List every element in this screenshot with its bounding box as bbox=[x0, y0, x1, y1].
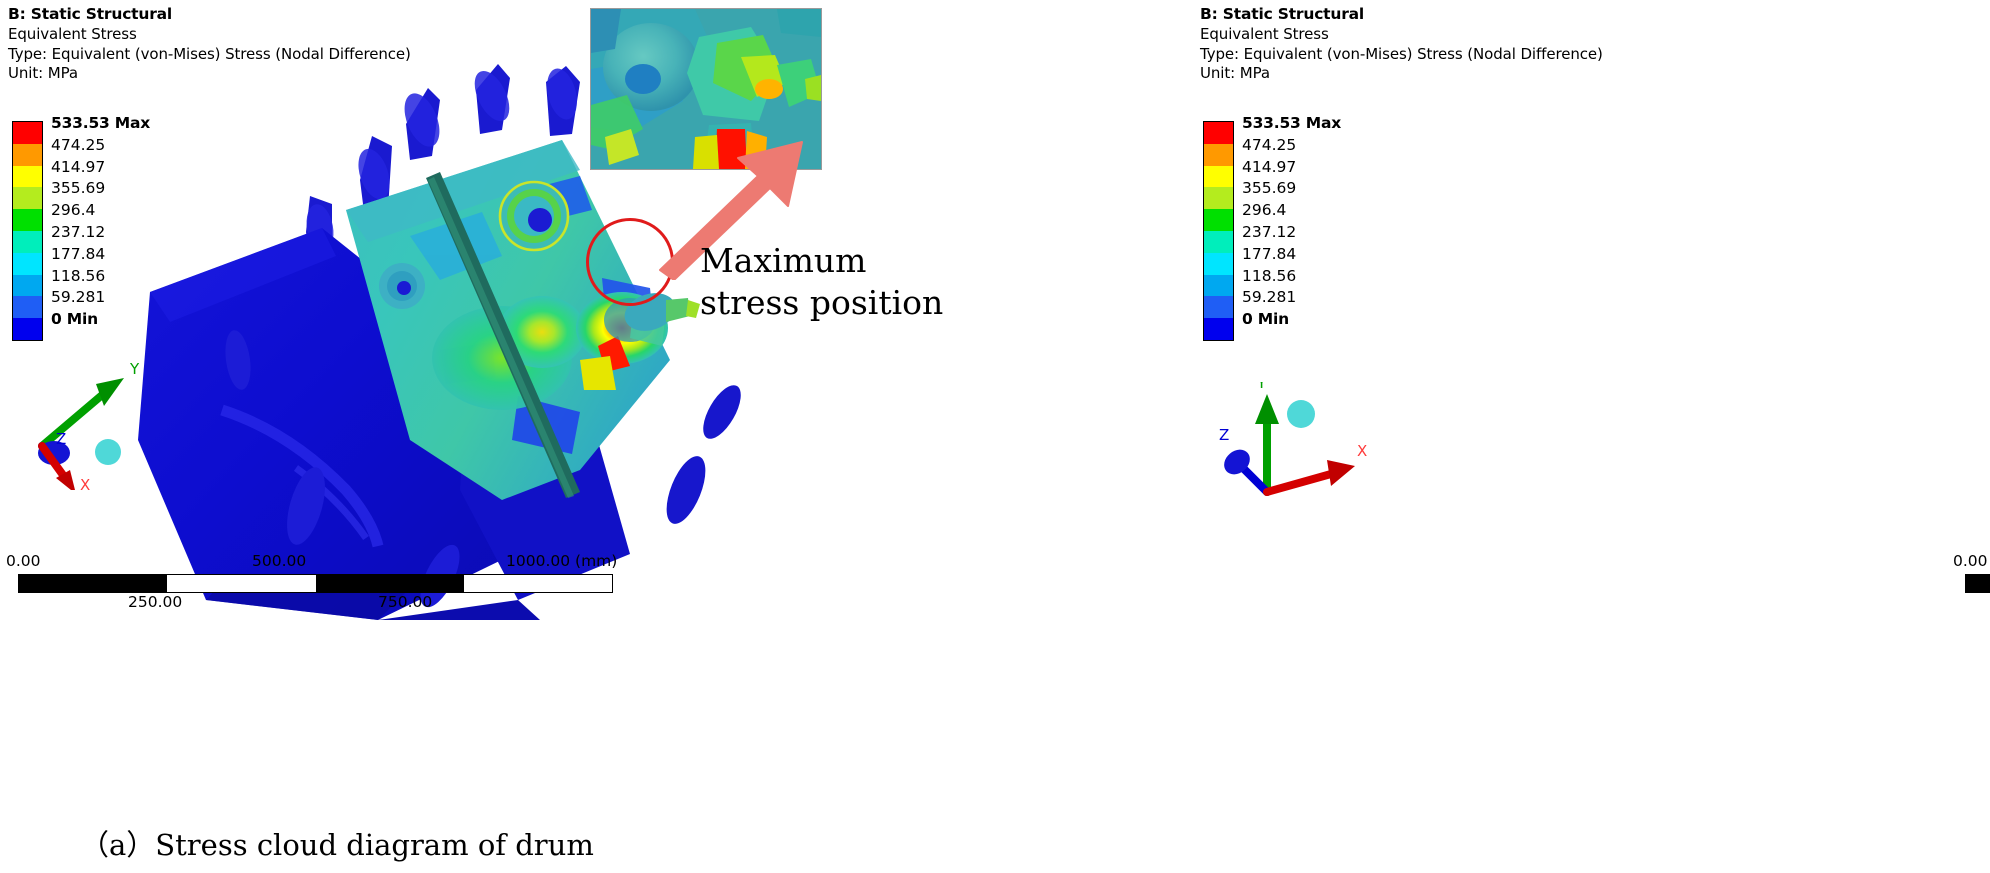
header-title: B: Static Structural bbox=[1200, 4, 1603, 25]
legend-label-min: 0 Min bbox=[51, 309, 150, 331]
legend-label: 177.84 bbox=[1242, 244, 1341, 266]
legend-label: 59.281 bbox=[1242, 287, 1341, 309]
scale-tick-1000: 1000.00 (mm) bbox=[506, 552, 617, 570]
legend-label: 237.12 bbox=[51, 222, 150, 244]
scale-segment bbox=[19, 575, 167, 592]
header-unit: Unit: MPa bbox=[1200, 64, 1603, 84]
header-result-name: Equivalent Stress bbox=[8, 25, 411, 45]
triad-y-label: Y bbox=[129, 360, 140, 378]
triad-y-label: Y bbox=[1256, 382, 1267, 392]
annotation-line-2: stress position bbox=[700, 282, 950, 324]
triad-x-label: X bbox=[1357, 442, 1367, 460]
max-stress-annotation-label: Maximum stress position bbox=[700, 240, 950, 324]
legend-band bbox=[13, 253, 42, 275]
legend-band bbox=[13, 275, 42, 297]
scale-segment bbox=[167, 575, 315, 592]
scale-segment bbox=[464, 575, 612, 592]
scale-bar-segments bbox=[18, 574, 613, 593]
scale-tick-0: 0.00 bbox=[6, 552, 41, 570]
legend-label: 177.84 bbox=[51, 244, 150, 266]
scale-segment bbox=[1966, 575, 1990, 592]
triad-x-label: X bbox=[80, 476, 90, 490]
legend-label: 296.4 bbox=[1242, 200, 1341, 222]
scale-tick-250: 250.00 bbox=[128, 593, 182, 611]
legend-band bbox=[1204, 318, 1233, 340]
legend-band bbox=[1204, 296, 1233, 318]
legend-band bbox=[1204, 144, 1233, 166]
legend-label: 355.69 bbox=[51, 178, 150, 200]
scale-tick-750: 750.00 bbox=[378, 593, 432, 611]
scale-bar-b: 0.00 500.00 1000.00 (mm) 250.00 750.00 bbox=[1953, 552, 1990, 617]
legend-label: 414.97 bbox=[1242, 157, 1341, 179]
legend-label: 118.56 bbox=[51, 266, 150, 288]
scale-bar-segments bbox=[1965, 574, 1990, 593]
legend-band bbox=[1204, 166, 1233, 188]
scale-tick-500: 500.00 bbox=[252, 552, 306, 570]
triad-z-label: Z bbox=[1219, 426, 1229, 444]
legend-label-min: 0 Min bbox=[1242, 309, 1341, 331]
legend-band bbox=[13, 296, 42, 318]
legend-band bbox=[13, 209, 42, 231]
legend-colorbar bbox=[1203, 121, 1234, 341]
scale-bar-a: 0.00 500.00 1000.00 (mm) 250.00 750.00 bbox=[6, 552, 621, 617]
panel-stress-cloud-diagram: B: Static Structural Equivalent Stress T… bbox=[0, 0, 995, 873]
header-result-name: Equivalent Stress bbox=[1200, 25, 1603, 45]
legend-labels: 533.53 Max 474.25 414.97 355.69 296.4 23… bbox=[1242, 113, 1341, 331]
panel-partial-enlarged-view: B: Static Structural Equivalent Stress T… bbox=[995, 0, 1990, 873]
panel-b-header: B: Static Structural Equivalent Stress T… bbox=[1200, 4, 1603, 84]
legend-band bbox=[1204, 187, 1233, 209]
legend-label: 296.4 bbox=[51, 200, 150, 222]
legend-band bbox=[13, 144, 42, 166]
legend-label: 474.25 bbox=[51, 135, 150, 157]
scale-segment bbox=[316, 575, 464, 592]
legend-label: 414.97 bbox=[51, 157, 150, 179]
legend-colorbar bbox=[12, 121, 43, 341]
legend-label: 237.12 bbox=[1242, 222, 1341, 244]
legend-band bbox=[1204, 275, 1233, 297]
legend-label: 118.56 bbox=[1242, 266, 1341, 288]
legend-band bbox=[13, 122, 42, 144]
legend-band bbox=[1204, 209, 1233, 231]
legend-label: 474.25 bbox=[1242, 135, 1341, 157]
legend-band bbox=[1204, 231, 1233, 253]
legend-label: 355.69 bbox=[1242, 178, 1341, 200]
legend-label-max: 533.53 Max bbox=[1242, 113, 1341, 135]
annotation-line-1: Maximum bbox=[700, 240, 950, 282]
coordinate-triad-b: Y Z X bbox=[1205, 382, 1395, 512]
legend-band bbox=[13, 187, 42, 209]
caption-a: （a）Stress cloud diagram of drum bbox=[80, 822, 594, 864]
triad-z-label: Z bbox=[56, 430, 66, 448]
legend-band bbox=[1204, 122, 1233, 144]
legend-label-max: 533.53 Max bbox=[51, 113, 150, 135]
coordinate-triad-a: Y Z X bbox=[8, 360, 198, 490]
legend-band bbox=[1204, 253, 1233, 275]
legend-band bbox=[13, 231, 42, 253]
header-result-type: Type: Equivalent (von-Mises) Stress (Nod… bbox=[1200, 45, 1603, 65]
legend-label: 59.281 bbox=[51, 287, 150, 309]
legend-band bbox=[13, 166, 42, 188]
scale-tick-0: 0.00 bbox=[1953, 552, 1988, 570]
legend-band bbox=[13, 318, 42, 340]
legend-labels: 533.53 Max 474.25 414.97 355.69 296.4 23… bbox=[51, 113, 150, 331]
header-title: B: Static Structural bbox=[8, 4, 411, 25]
